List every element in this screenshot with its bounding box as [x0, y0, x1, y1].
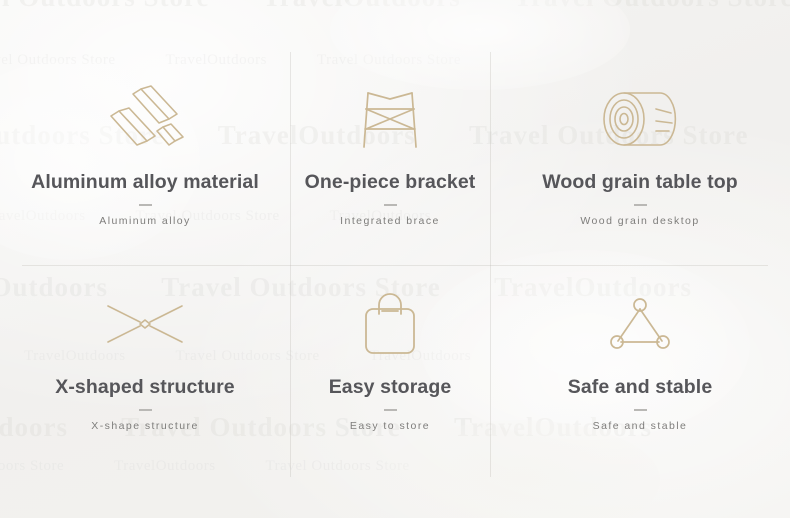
feature-title: Safe and stable	[568, 377, 713, 398]
feature-title: Aluminum alloy material	[31, 172, 259, 193]
title-dash-separator	[384, 204, 397, 206]
feature-title: Wood grain table top	[542, 172, 738, 193]
feature-caption: Aluminum alloy	[99, 215, 191, 227]
feature-title: One-piece bracket	[305, 172, 476, 193]
wood-log-grain-icon	[598, 80, 682, 158]
feature-cell-one-piece-bracket: One-piece bracket Integrated brace	[290, 0, 490, 265]
feature-caption: X-shape structure	[91, 420, 199, 432]
title-dash-separator	[384, 409, 397, 411]
feature-title: X-shaped structure	[55, 377, 235, 398]
feature-grid: Aluminum alloy material Aluminum alloy	[0, 0, 790, 518]
feature-cell-wood-grain-top: Wood grain table top Wood grain desktop	[490, 0, 790, 265]
feature-caption: Safe and stable	[593, 420, 688, 432]
feature-cell-aluminum-alloy: Aluminum alloy material Aluminum alloy	[0, 0, 290, 265]
feature-caption: Integrated brace	[340, 215, 440, 227]
feature-title: Easy storage	[329, 377, 452, 398]
title-dash-separator	[139, 204, 152, 206]
feature-cell-easy-storage: Easy storage Easy to store	[290, 265, 490, 518]
aluminum-ingots-icon	[101, 80, 189, 158]
feature-cell-safe-stable: Safe and stable Safe and stable	[490, 265, 790, 518]
title-dash-separator	[139, 409, 152, 411]
feature-caption: Easy to store	[350, 420, 430, 432]
product-feature-board: Travel Outdoors Store TravelOutdoors Tra…	[0, 0, 790, 518]
x-cross-structure-icon	[102, 285, 188, 363]
triangle-stability-icon	[608, 285, 672, 363]
title-dash-separator	[634, 409, 647, 411]
storage-bag-icon	[360, 285, 420, 363]
table-bracket-frame-icon	[354, 80, 426, 158]
feature-caption: Wood grain desktop	[580, 215, 699, 227]
title-dash-separator	[634, 204, 647, 206]
feature-cell-x-structure: X-shaped structure X-shape structure	[0, 265, 290, 518]
